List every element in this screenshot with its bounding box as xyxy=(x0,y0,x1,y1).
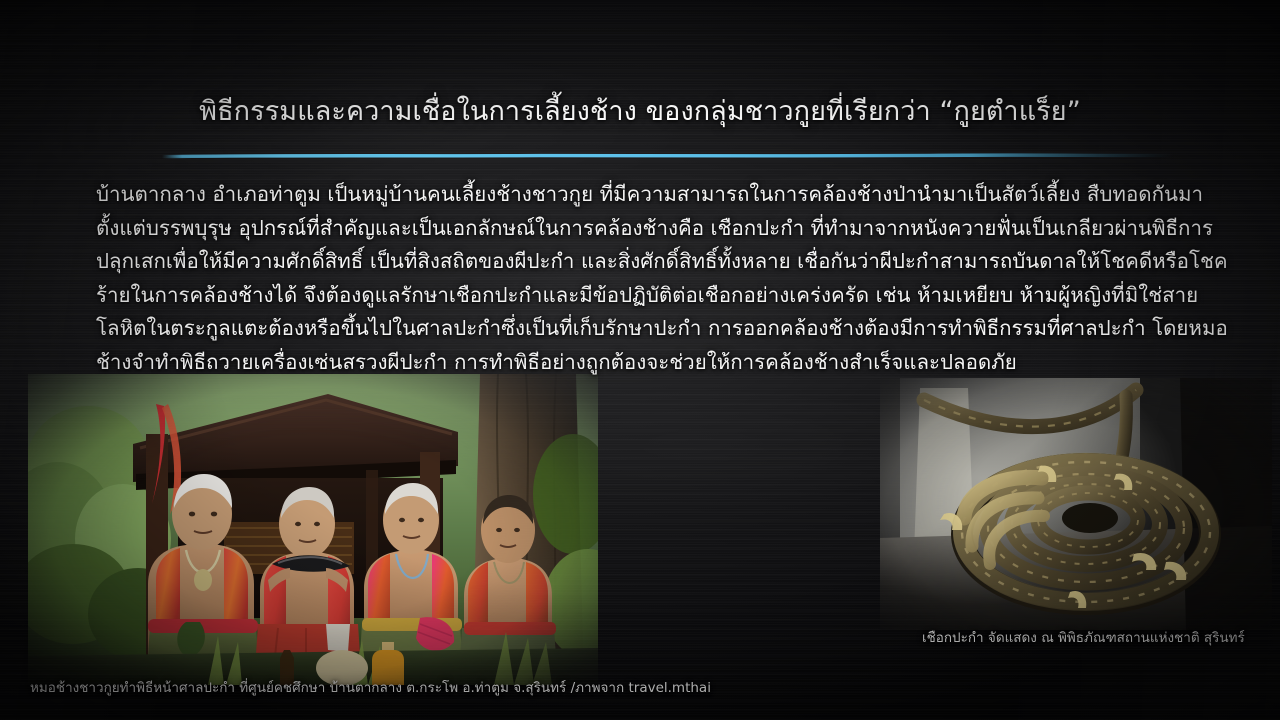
elephant-keepers-at-pakam-shrine-photo xyxy=(28,374,598,685)
title-divider-line xyxy=(160,150,1175,162)
pakam-rope-museum-photo xyxy=(880,378,1272,630)
slide-title: พิธีกรรมและความเชื่อในการเลี้ยงช้าง ของก… xyxy=(0,95,1280,129)
presentation-slide: พิธีกรรมและความเชื่อในการเลี้ยงช้าง ของก… xyxy=(0,0,1280,720)
slide-body-paragraph: บ้านตากลาง อำเภอท่าตูม เป็นหมู่บ้านคนเลี… xyxy=(96,178,1244,379)
right-photo-caption: เชือกปะกำ จัดแสดง ณ พิพิธภัณฑสถานแห่งชาต… xyxy=(922,629,1245,647)
left-photo-caption: หมอช้างชาวกูยทำพิธีหน้าศาลปะกำ ที่ศูนย์ค… xyxy=(30,679,711,697)
